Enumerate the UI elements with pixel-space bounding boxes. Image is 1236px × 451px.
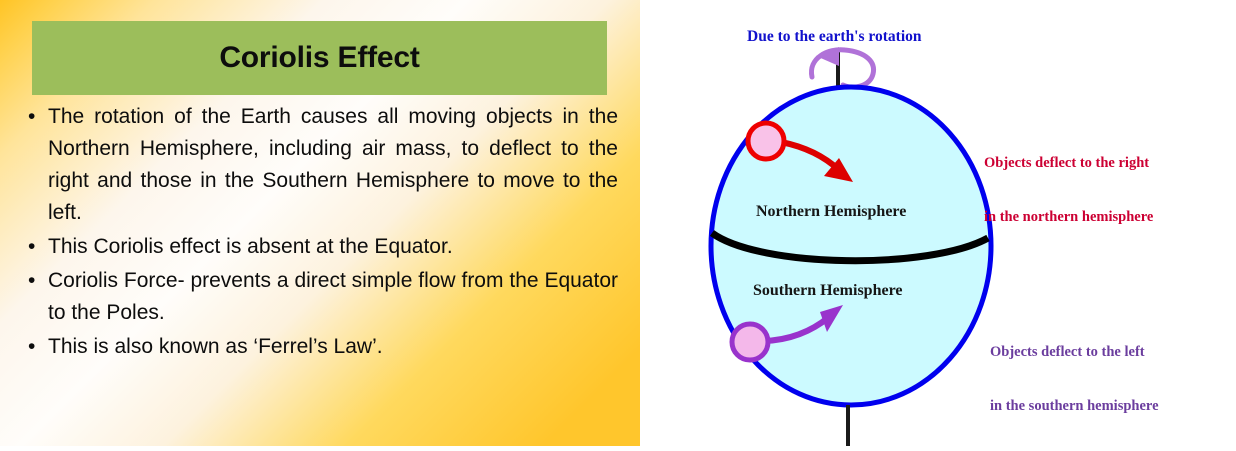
southern-hemisphere-label: Southern Hemisphere [753, 282, 902, 300]
right-deflection-caption: Objects deflect to the right in the nort… [984, 118, 1153, 262]
page-title: Coriolis Effect [219, 41, 419, 75]
bullet-text: Coriolis Force- prevents a direct simple… [48, 265, 618, 329]
bullet-marker-icon: • [28, 331, 48, 363]
right-deflection-caption-line2: in the northern hemisphere [984, 208, 1153, 226]
rotation-caption: Due to the earth's rotation [747, 28, 922, 46]
bullet-text: The rotation of the Earth causes all mov… [48, 101, 618, 229]
left-deflection-caption-line1: Objects deflect to the left [990, 343, 1159, 361]
earth-coriolis-diagram: Due to the earth's rotation Northern Hem… [640, 0, 1236, 446]
bullet-text: This is also known as ‘Ferrel’s Law’. [48, 331, 618, 363]
left-deflection-caption: Objects deflect to the left in the south… [990, 307, 1159, 451]
bullet-list: • The rotation of the Earth causes all m… [28, 101, 618, 365]
list-item: • This Coriolis effect is absent at the … [28, 231, 618, 263]
title-banner: Coriolis Effect [32, 21, 607, 95]
list-item: • This is also known as ‘Ferrel’s Law’. [28, 331, 618, 363]
bullet-marker-icon: • [28, 265, 48, 297]
bullet-marker-icon: • [28, 101, 48, 133]
bullet-text: This Coriolis effect is absent at the Eq… [48, 231, 618, 263]
north-object-marker [748, 123, 784, 159]
right-deflection-caption-line1: Objects deflect to the right [984, 154, 1153, 172]
south-object-marker [732, 324, 768, 360]
list-item: • Coriolis Force- prevents a direct simp… [28, 265, 618, 329]
left-content-panel: Coriolis Effect • The rotation of the Ea… [0, 0, 640, 446]
northern-hemisphere-label: Northern Hemisphere [756, 203, 906, 221]
bullet-marker-icon: • [28, 231, 48, 263]
left-deflection-caption-line2: in the southern hemisphere [990, 397, 1159, 415]
slide-canvas: Coriolis Effect • The rotation of the Ea… [0, 0, 1236, 446]
list-item: • The rotation of the Earth causes all m… [28, 101, 618, 229]
